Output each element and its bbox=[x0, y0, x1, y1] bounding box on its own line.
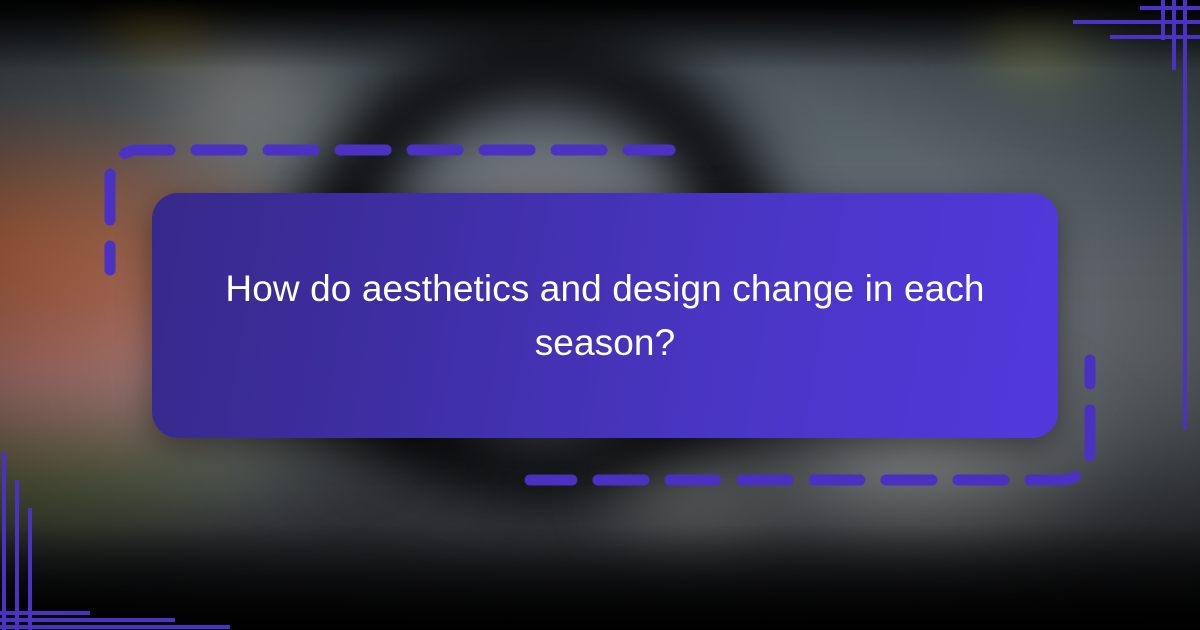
poster-canvas: How do aesthetics and design change in e… bbox=[0, 0, 1200, 630]
bracket-line-vertical-mid-bl bbox=[15, 480, 19, 630]
bracket-line-vertical-outer-bl bbox=[2, 452, 6, 630]
bracket-line-horizontal-inner bbox=[1140, 6, 1200, 10]
bracket-line-vertical-outer bbox=[1183, 0, 1187, 430]
bracket-line-horizontal-outer bbox=[1073, 20, 1200, 24]
bracket-line-horizontal-outer-bl bbox=[0, 611, 90, 615]
question-card: How do aesthetics and design change in e… bbox=[152, 193, 1058, 438]
bracket-line-horizontal-mid-bl bbox=[0, 618, 175, 622]
bracket-line-horizontal-inner-bl bbox=[0, 625, 230, 629]
bracket-line-horizontal-mid bbox=[1110, 35, 1200, 39]
question-text: How do aesthetics and design change in e… bbox=[196, 262, 1014, 369]
